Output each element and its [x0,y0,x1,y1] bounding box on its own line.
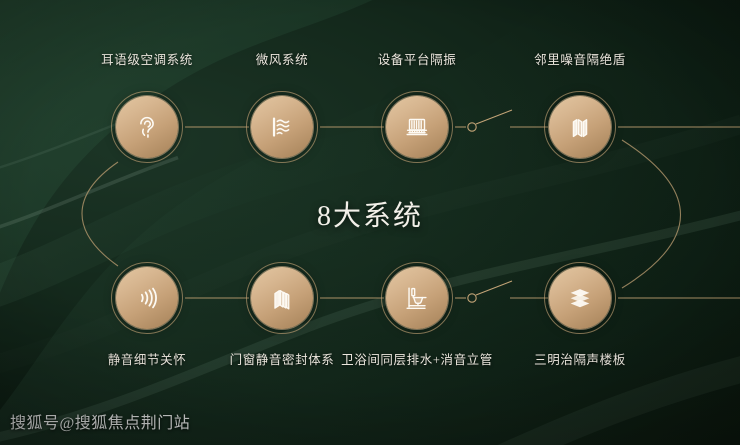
node-circle[interactable] [116,267,178,329]
toilet-drain-icon [402,283,432,313]
node-circle[interactable] [386,96,448,158]
node-circle[interactable] [549,96,611,158]
breeze-waves-icon [267,112,297,142]
node-label: 三明治隔声楼板 [480,349,680,368]
node-circle[interactable] [386,267,448,329]
sandwich-slab-icon [565,283,595,313]
layered-window-icon [267,283,297,313]
ear-icon [132,112,162,142]
switch-node-bottom [468,281,512,302]
switch-node-top [468,110,512,131]
watermark: 搜狐号@搜狐焦点荆门站 [10,409,190,433]
node-circle[interactable] [251,96,313,158]
sound-wave-icon [132,283,162,313]
equipment-platform-icon [402,112,432,142]
node-circle[interactable] [251,267,313,329]
infographic-canvas: 耳语级空调系统 微风系统 设备平台隔振 [0,0,740,445]
wall-panels-icon [565,112,595,142]
node-circle[interactable] [549,267,611,329]
node-circle[interactable] [116,96,178,158]
node-label: 邻里噪音隔绝盾 [480,49,680,68]
page-title: 8大系统 [0,194,740,234]
